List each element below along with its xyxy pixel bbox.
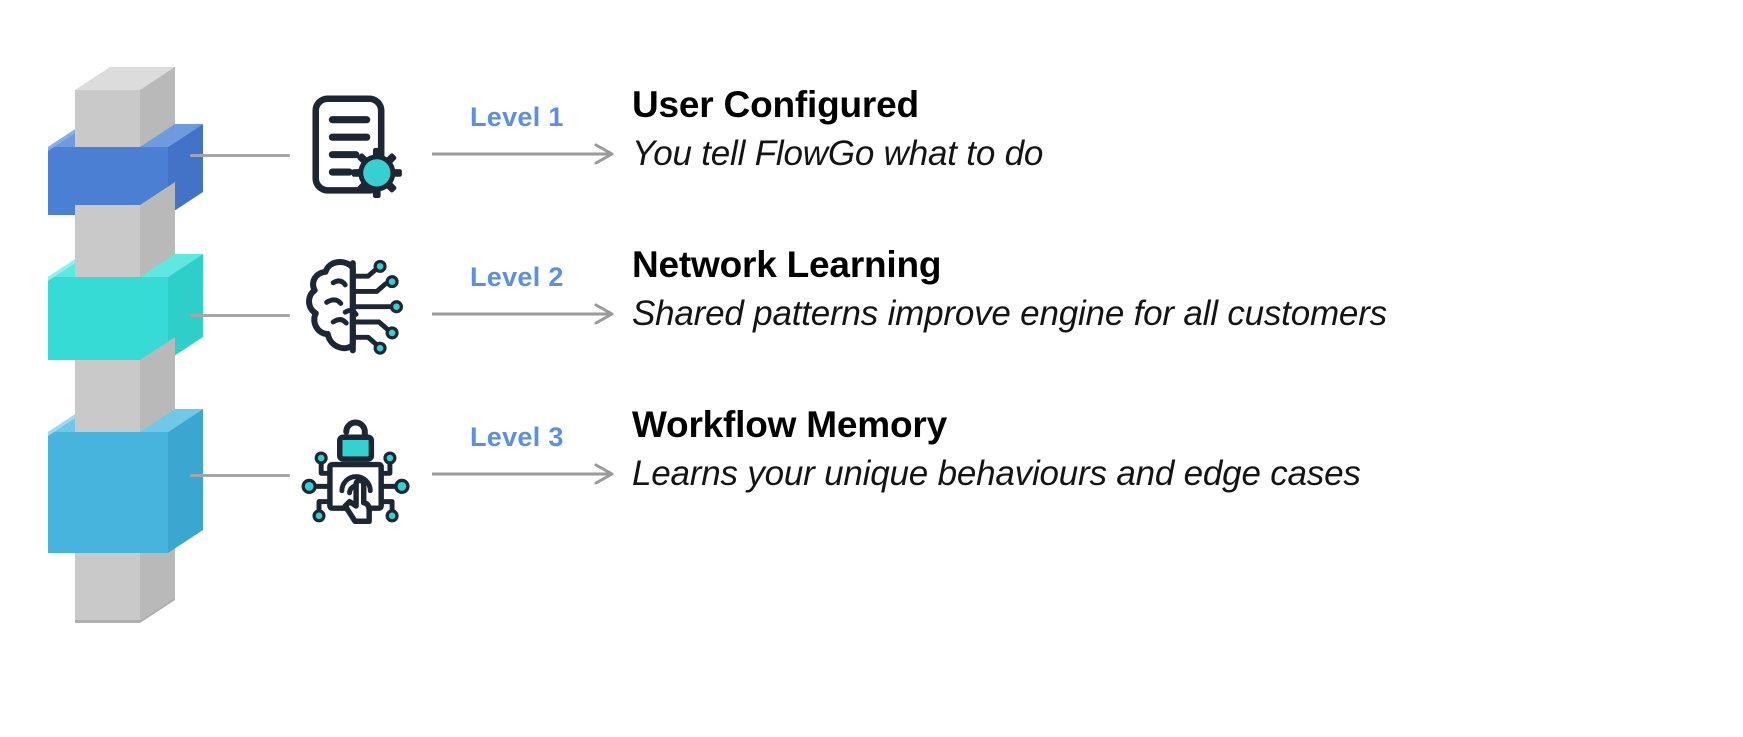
document-gear-icon [300,90,410,210]
row-heading-3: Workflow Memory [632,404,1743,447]
text-column-1: User Configured You tell FlowGo what to … [632,84,1743,175]
level-label-3: Level 3 [470,422,630,453]
level-column-2: Level 2 [430,240,630,390]
level-label-1: Level 1 [470,102,630,133]
lock-touch-circuit-icon [300,410,410,530]
text-column-3: Workflow Memory Learns your unique behav… [632,404,1743,495]
brain-circuit-icon [300,250,410,370]
level-column-3: Level 3 [430,400,630,550]
row-heading-2: Network Learning [632,244,1743,287]
text-column-2: Network Learning Shared patterns improve… [632,244,1743,335]
row-subheading-2: Shared patterns improve engine for all c… [632,293,1743,335]
row-subheading-3: Learns your unique behaviours and edge c… [632,453,1743,495]
stacked-tower-graphic [40,55,240,625]
row-heading-1: User Configured [632,84,1743,127]
arrow-1 [430,142,630,166]
row-subheading-1: You tell FlowGo what to do [632,133,1743,175]
arrow-3 [430,462,630,486]
level-column-1: Level 1 [430,80,630,230]
connector-line-3 [190,474,290,477]
diagram-canvas: Level 1 User Configured You tell FlowGo … [0,0,1743,737]
level-label-2: Level 2 [470,262,630,293]
connector-line-1 [190,154,290,157]
arrow-2 [430,302,630,326]
connector-line-2 [190,314,290,317]
